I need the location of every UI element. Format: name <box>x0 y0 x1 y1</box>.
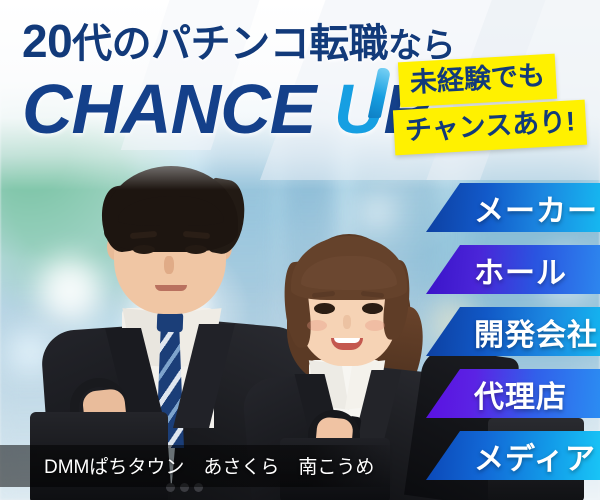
headline: 20代のパチンコ転職なら <box>22 18 452 69</box>
teeth <box>334 338 360 343</box>
nose <box>164 256 174 274</box>
recruitment-banner-ad[interactable]: 20代のパチンコ転職なら CHANCE UP 未経験でも チャンスあり! メーカ… <box>0 0 600 500</box>
caption-credits: DMMぱちタウン あさくら 南こうめ <box>44 452 374 479</box>
eye-right <box>362 303 383 314</box>
cheek-left <box>307 320 327 331</box>
cheek-right <box>365 320 385 331</box>
logo-word-chance: CHANCE <box>22 70 315 148</box>
headline-number: 20 <box>22 15 72 67</box>
eye-left <box>314 303 335 314</box>
nose <box>343 315 351 329</box>
necktie-knot <box>157 312 184 333</box>
badge-no-experience: 未経験でも <box>398 54 557 108</box>
headline-line-1: 20代のパチンコ転職なら <box>22 18 452 69</box>
eye-left <box>133 245 155 254</box>
chance-up-logo: CHANCE UP <box>22 72 429 146</box>
headline-main-text: 代のパチンコ転職 <box>72 22 388 66</box>
eye-right <box>185 245 207 254</box>
mouth <box>155 285 187 291</box>
logo-letter-u-with-arrow: U <box>334 72 384 146</box>
